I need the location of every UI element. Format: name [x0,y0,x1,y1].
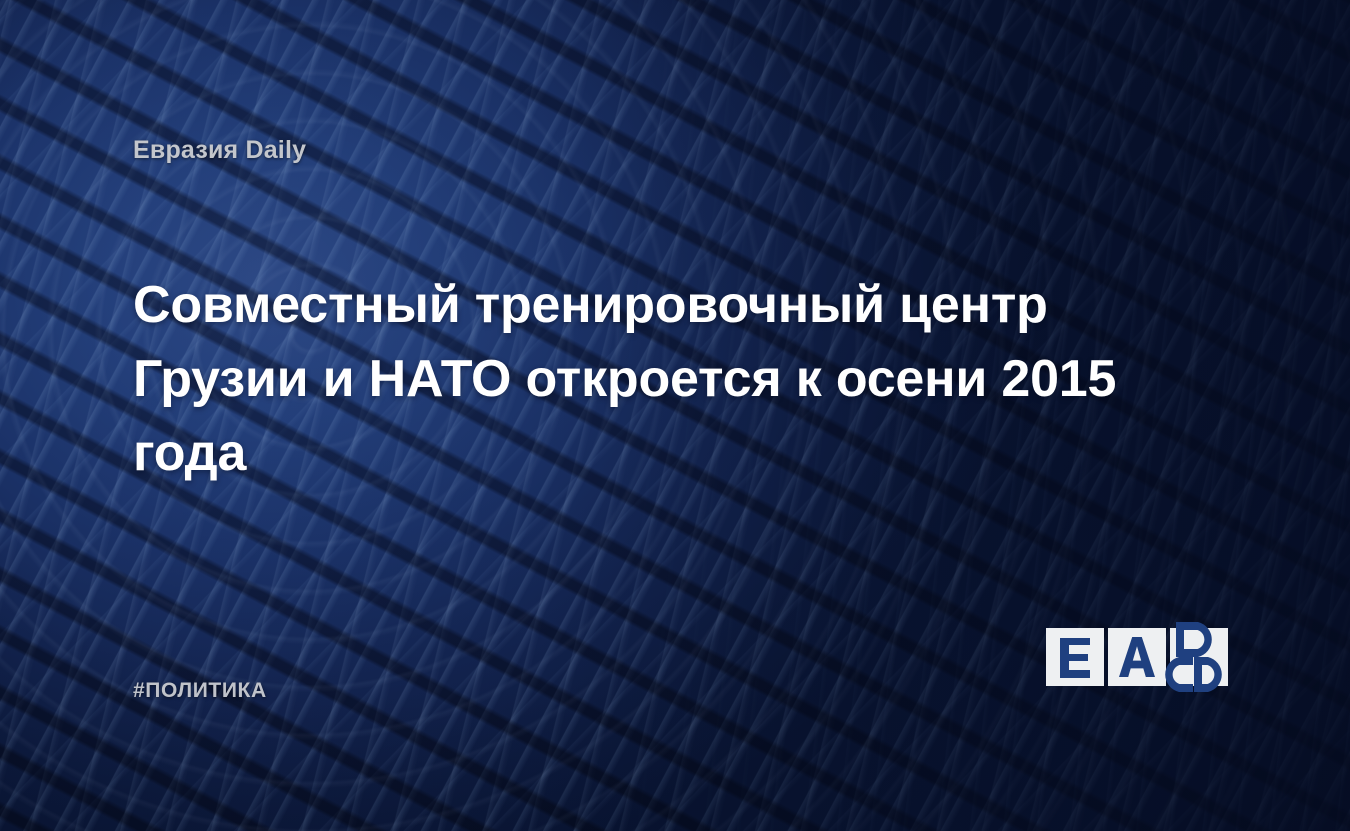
card-content: Евразия Daily Совместный тренировочный ц… [0,0,1350,831]
logo-tile-e [1046,628,1104,686]
headline: Совместный тренировочный центр Грузии и … [133,268,1193,490]
logo-tile-d [1170,628,1228,686]
logo-letter-e-icon [1058,636,1092,678]
logo-letter-a-icon [1118,636,1156,678]
logo-letter-d-icon [1172,628,1226,686]
category-hashtag: #ПОЛИТИКА [133,679,267,703]
social-share-card: Евразия Daily Совместный тренировочный ц… [0,0,1350,831]
logo-tile-a [1108,628,1166,686]
brand-wordmark: Евразия Daily [133,136,306,165]
eadaily-logo [1046,628,1228,686]
